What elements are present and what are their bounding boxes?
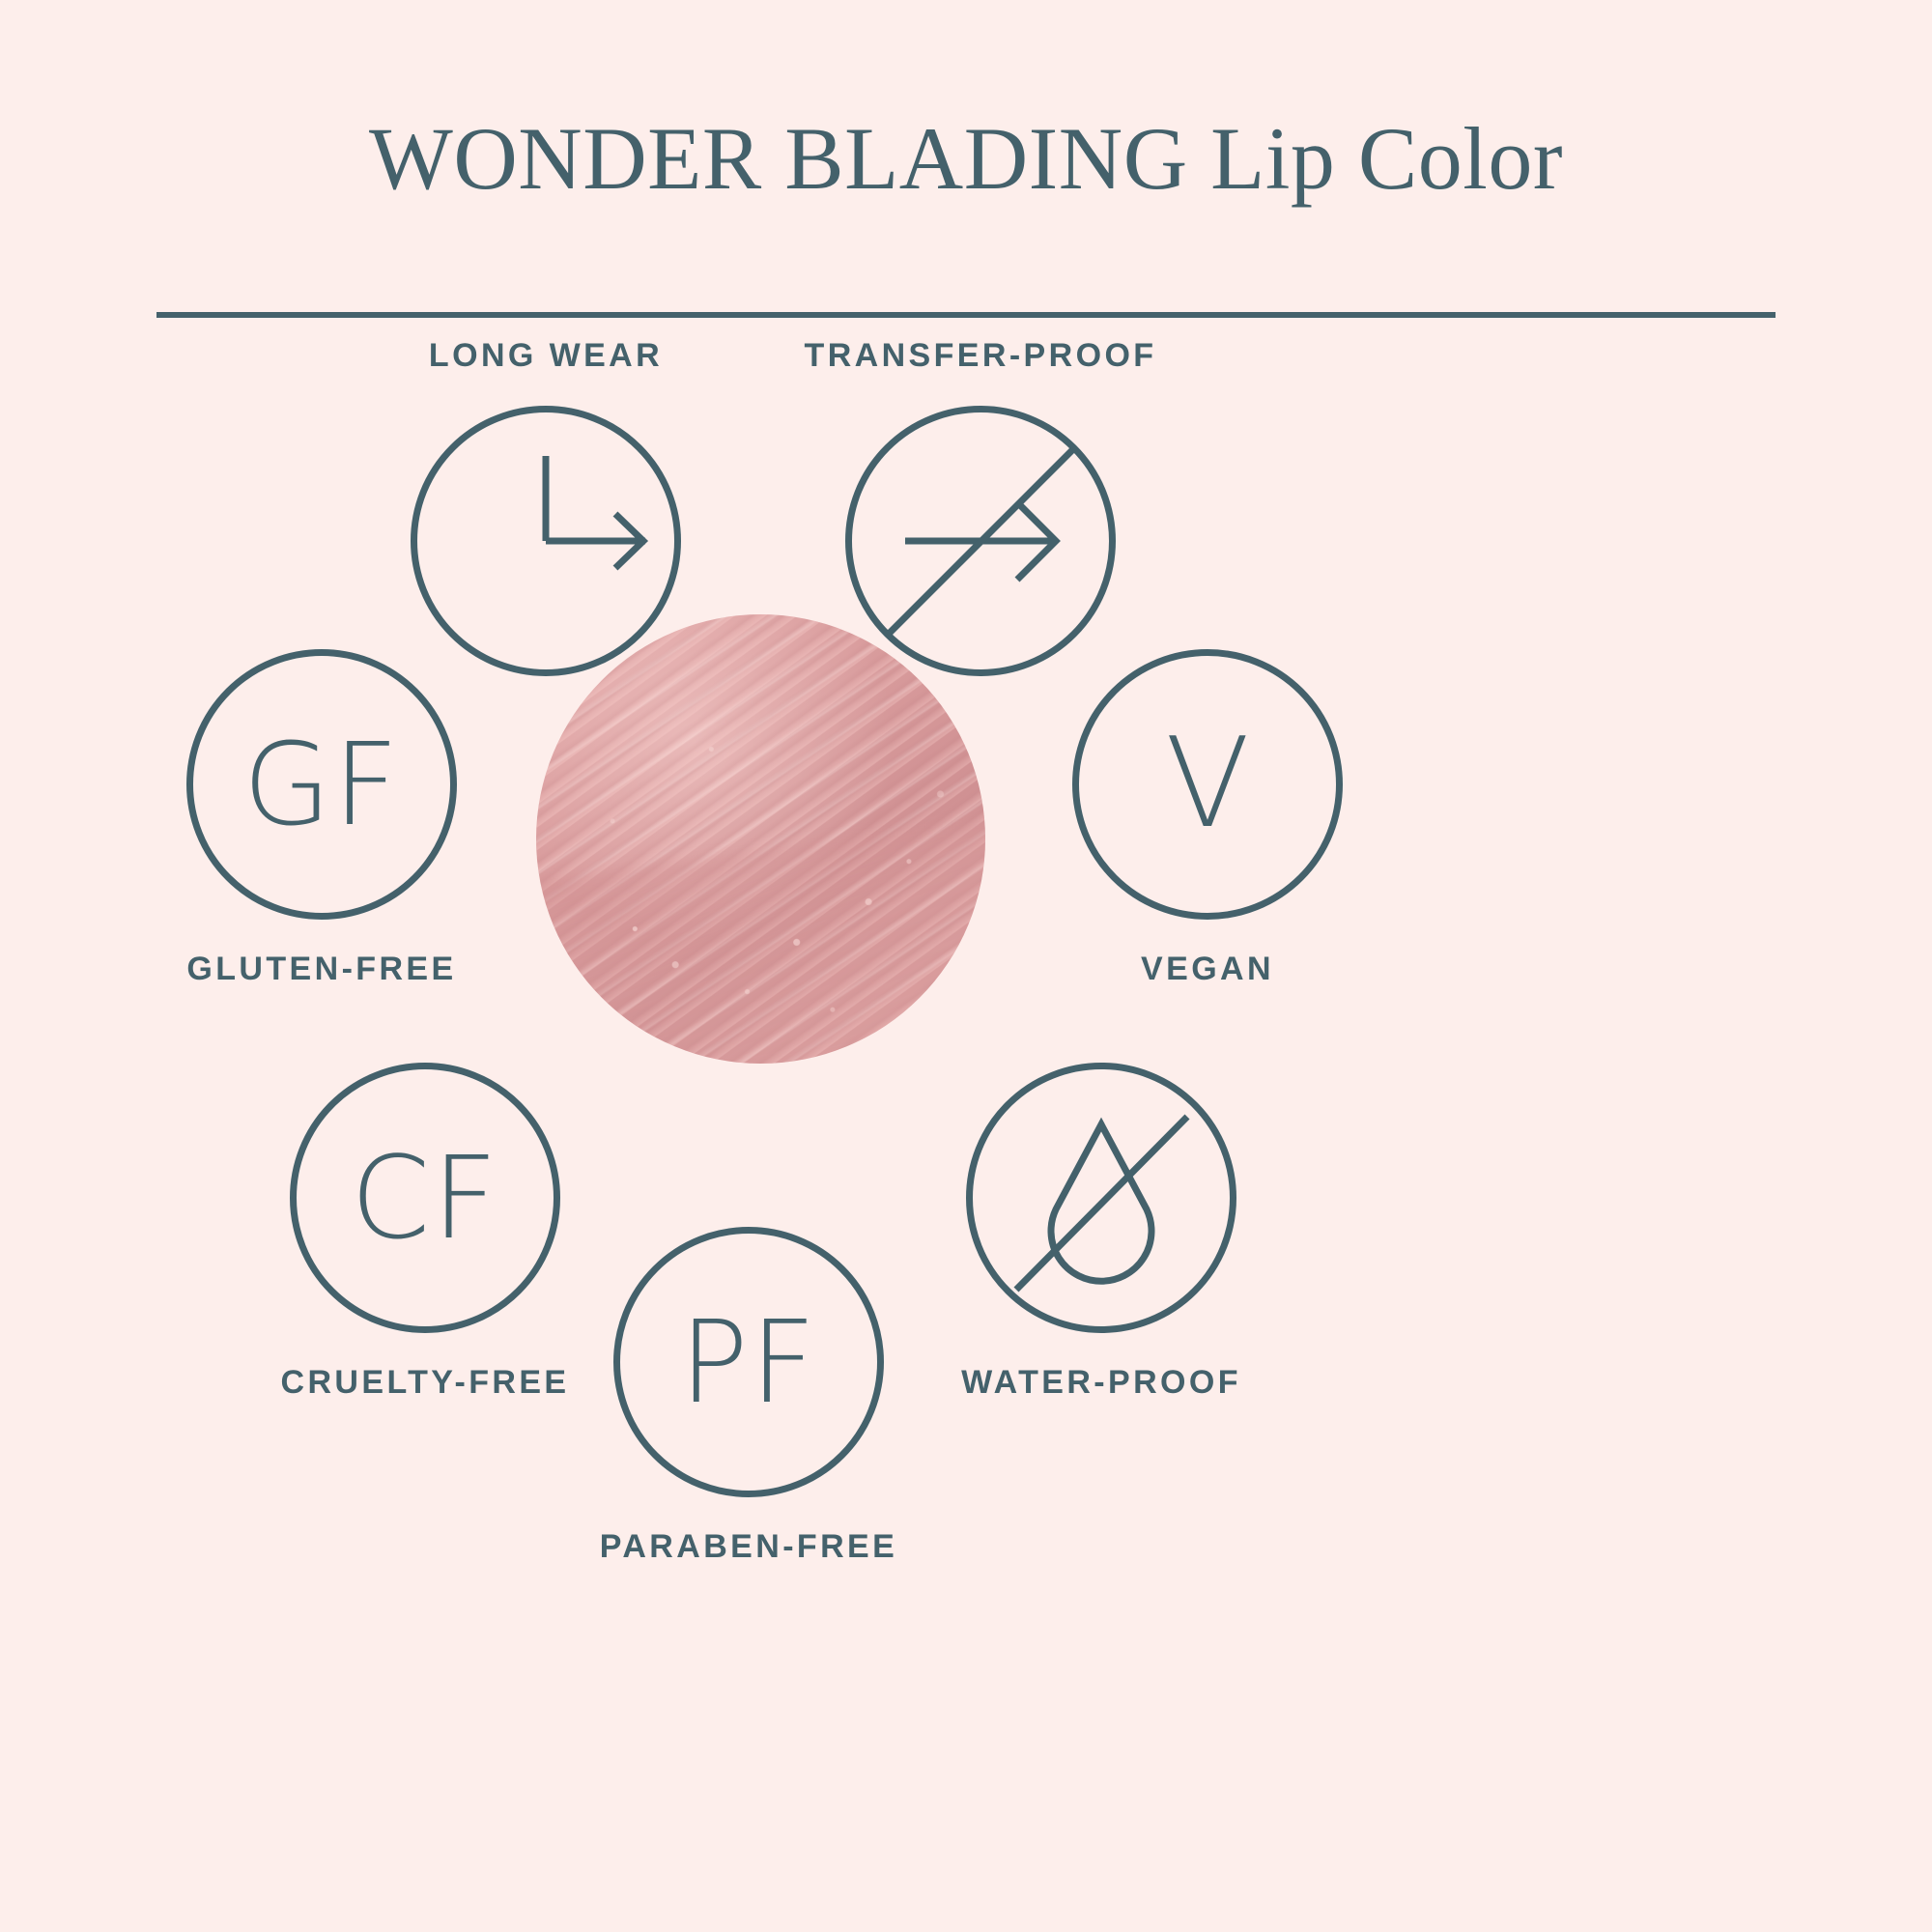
no-water-droplet-icon — [966, 1063, 1236, 1333]
badge-water-proof[interactable]: WATER-PROOF — [956, 1063, 1246, 1333]
lip-color-swatch — [536, 614, 985, 1064]
badge-label-cruelty-free: CRUELTY-FREE — [281, 1364, 570, 1402]
v-letter-icon: V — [1079, 656, 1336, 913]
swatch-texture-speckle — [536, 614, 985, 1064]
clock-icon — [411, 406, 681, 676]
badge-vegan[interactable]: V VEGAN — [1063, 649, 1352, 920]
badge-paraben-free[interactable]: PF PARABEN-FREE — [604, 1227, 894, 1497]
badge-label-water-proof: WATER-PROOF — [961, 1364, 1241, 1402]
cf-letters-icon: CF — [297, 1069, 554, 1326]
badge-ring-long-wear — [411, 406, 681, 676]
badge-label-transfer-proof: TRANSFER-PROOF — [805, 337, 1157, 375]
badge-ring-vegan: V — [1072, 649, 1343, 920]
product-benefits-infographic: WONDER BLADING Lip Color LONG WEAR TRANS… — [0, 0, 1932, 1932]
badge-ring-gluten-free: GF — [186, 649, 457, 920]
badge-label-long-wear: LONG WEAR — [429, 337, 663, 375]
badge-ring-paraben-free: PF — [613, 1227, 884, 1497]
no-transfer-arrow-icon — [845, 406, 1116, 676]
badge-gluten-free[interactable]: GF GLUTEN-FREE — [177, 649, 467, 920]
badge-transfer-proof[interactable]: TRANSFER-PROOF — [836, 406, 1125, 676]
badge-label-vegan: VEGAN — [1141, 951, 1274, 988]
badge-label-paraben-free: PARABEN-FREE — [600, 1528, 897, 1566]
page-title: WONDER BLADING Lip Color — [0, 114, 1932, 203]
badge-label-gluten-free: GLUTEN-FREE — [186, 951, 456, 988]
badge-cruelty-free[interactable]: CF CRUELTY-FREE — [280, 1063, 570, 1333]
pf-letters-icon: PF — [620, 1234, 877, 1491]
badge-ring-water-proof — [966, 1063, 1236, 1333]
gf-letters-icon: GF — [193, 656, 450, 913]
badge-ring-transfer-proof — [845, 406, 1116, 676]
title-divider — [156, 312, 1776, 318]
badge-long-wear[interactable]: LONG WEAR — [401, 406, 691, 676]
badge-ring-cruelty-free: CF — [290, 1063, 560, 1333]
